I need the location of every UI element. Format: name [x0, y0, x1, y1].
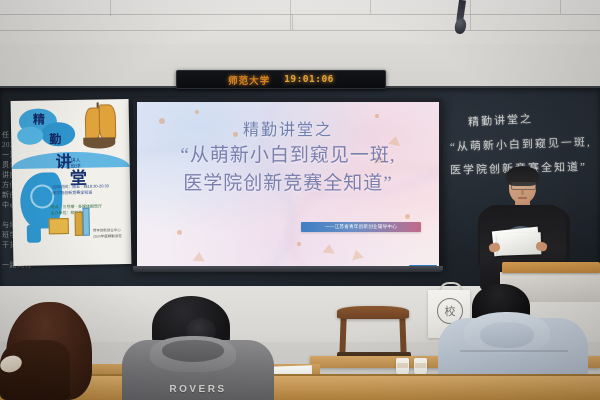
slide-triangle-decor [193, 252, 206, 262]
chair-backrest [337, 306, 409, 319]
podium-top [502, 262, 600, 273]
projection-screen: 精勤讲堂之 “从萌新小白到窥见一斑, 医学院创新竞赛全知道” ——江苏省青年创新… [137, 102, 439, 266]
slide-footer-banner: ——江苏省青年创新创业辅导中心 [301, 222, 421, 232]
poster-book-icon [49, 218, 69, 234]
student-center-hoodie-text: ROVERS [122, 384, 274, 395]
chair-leg [339, 316, 346, 356]
slide-subtitle-line-1: “从萌新小白到窥见一斑, [137, 140, 439, 167]
blackboard-chalk-title: 精勤讲堂之 [468, 110, 534, 129]
led-clock: 19:01:06 [284, 74, 334, 85]
slide-triangle-decor [323, 243, 336, 253]
speaker-nose [521, 189, 524, 195]
student-right-hood-inner [480, 322, 534, 348]
led-marquee-text: 师范大学 [228, 73, 270, 87]
poster-sail-icon [99, 104, 117, 139]
slide-dot-decor [177, 230, 182, 235]
poster-test-tube-icon [82, 208, 89, 236]
screen-bottom-strip [133, 266, 443, 272]
poster-body-text: 活动时间：周五 · 晚18:30-20:30 医学院创新竞赛全知道 [52, 183, 109, 196]
lecture-hall-photo: 精勤讲堂之 “从萌新小白到窥见一斑, 医学院创新竞赛全知道” 任 2024年度 … [0, 0, 600, 400]
poster-neck-shape [27, 225, 41, 243]
slide-dot-decor [405, 214, 410, 219]
speaker-mouth [518, 197, 527, 199]
slide-title: 精勤讲堂之 [137, 116, 439, 140]
slide-footer-banner-text: ——江苏省青年创新创业辅导中心 [325, 224, 397, 230]
led-marquee-display: 师范大学 19:01:06 [176, 70, 386, 89]
hand-drawn-poster: 精 勤 讲 堂 主讲人 王欣洋 活动时间：周五 · 晚18:30-20:30 医… [11, 99, 132, 266]
poster-ship-hull-icon [83, 137, 115, 149]
poster-footnote: 青年创新创业中心 2024年度精勤讲堂 [93, 227, 122, 240]
speech-notes-paper [497, 232, 542, 256]
student-center-hood-inner [162, 340, 224, 362]
poster-char-1: 精 [33, 110, 45, 127]
ceiling [0, 0, 600, 46]
poster-cloud-icon [17, 126, 43, 144]
slide-dot-decor [297, 242, 301, 246]
slide-subtitle-line-2: 医学院创新竞赛全知道” [137, 168, 439, 195]
student-right-jacket-seam [460, 350, 568, 352]
slide-dot-decor [195, 110, 199, 114]
poster-char-2: 勤 [49, 130, 61, 147]
projection-screen-bezel: 精勤讲堂之 “从萌新小白到窥见一斑, 医学院创新竞赛全知道” ——江苏省青年创新… [133, 98, 443, 270]
poster-credit: 主讲人 王欣洋 [66, 158, 81, 170]
